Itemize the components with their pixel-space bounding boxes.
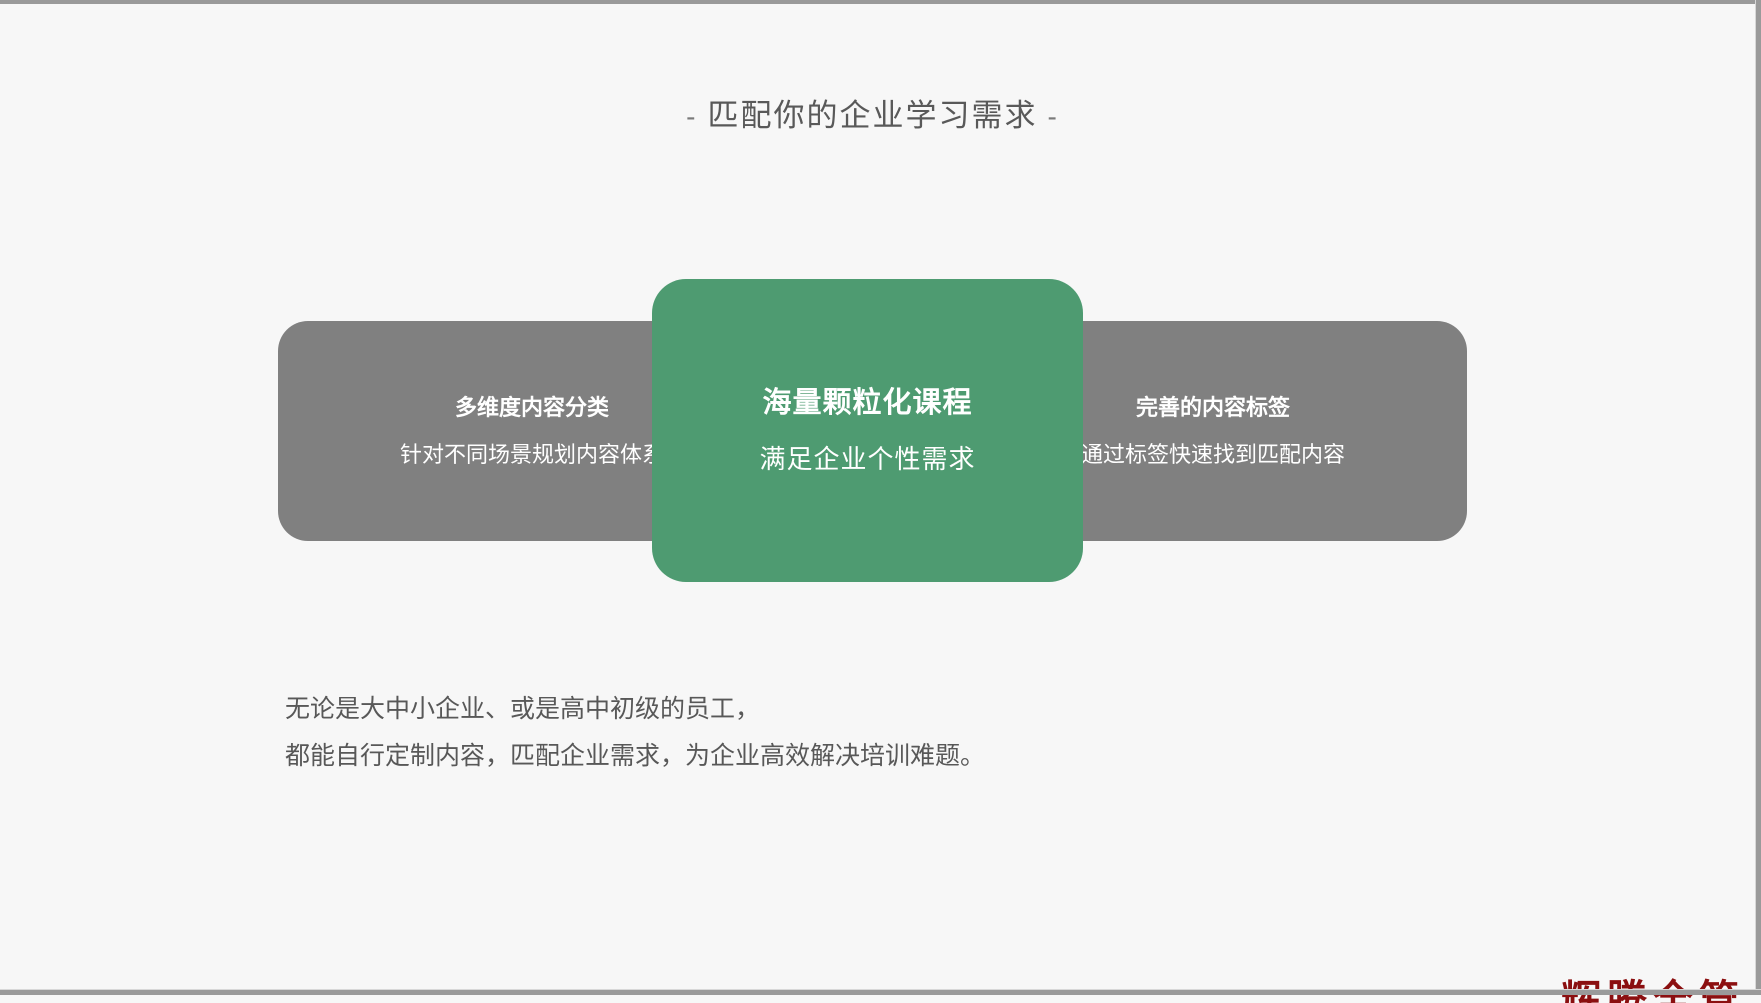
feature-card-center-content: 海量颗粒化课程 满足企业个性需求	[759, 385, 975, 476]
title-dash-right: -	[1038, 101, 1069, 132]
slide-canvas: -匹配你的企业学习需求- 多维度内容分类 针对不同场景规划内容体系 完善的内容标…	[0, 4, 1755, 989]
feature-card-right-content: 完善的内容标签 通过标签快速找到匹配内容	[1081, 394, 1345, 469]
watermark: 辉腾全管	[1561, 967, 1745, 1003]
title-dash-left: -	[676, 101, 707, 132]
body-copy: 无论是大中小企业、或是高中初级的员工， 都能自行定制内容，匹配企业需求，为企业高…	[285, 686, 985, 780]
feature-card-left-subtitle: 针对不同场景规划内容体系	[400, 441, 664, 469]
page-title: -匹配你的企业学习需求-	[0, 90, 1745, 135]
feature-card-group: 多维度内容分类 针对不同场景规划内容体系 完善的内容标签 通过标签快速找到匹配内…	[0, 279, 1745, 579]
horizontal-scrollbar[interactable]	[0, 989, 1761, 995]
feature-card-left-content: 多维度内容分类 针对不同场景规划内容体系	[400, 394, 664, 469]
vertical-scrollbar[interactable]	[1755, 0, 1761, 995]
feature-card-center-subtitle: 满足企业个性需求	[759, 443, 975, 476]
body-copy-line-2: 都能自行定制内容，匹配企业需求，为企业高效解决培训难题。	[285, 733, 985, 780]
feature-card-right-subtitle: 通过标签快速找到匹配内容	[1081, 441, 1345, 469]
feature-card-center[interactable]: 海量颗粒化课程 满足企业个性需求	[652, 279, 1083, 582]
feature-card-center-title: 海量颗粒化课程	[762, 385, 972, 421]
feature-card-left-title: 多维度内容分类	[455, 394, 609, 422]
feature-card-right-title: 完善的内容标签	[1136, 394, 1290, 422]
body-copy-line-1: 无论是大中小企业、或是高中初级的员工，	[285, 686, 985, 733]
page-title-text: 匹配你的企业学习需求	[708, 98, 1038, 133]
